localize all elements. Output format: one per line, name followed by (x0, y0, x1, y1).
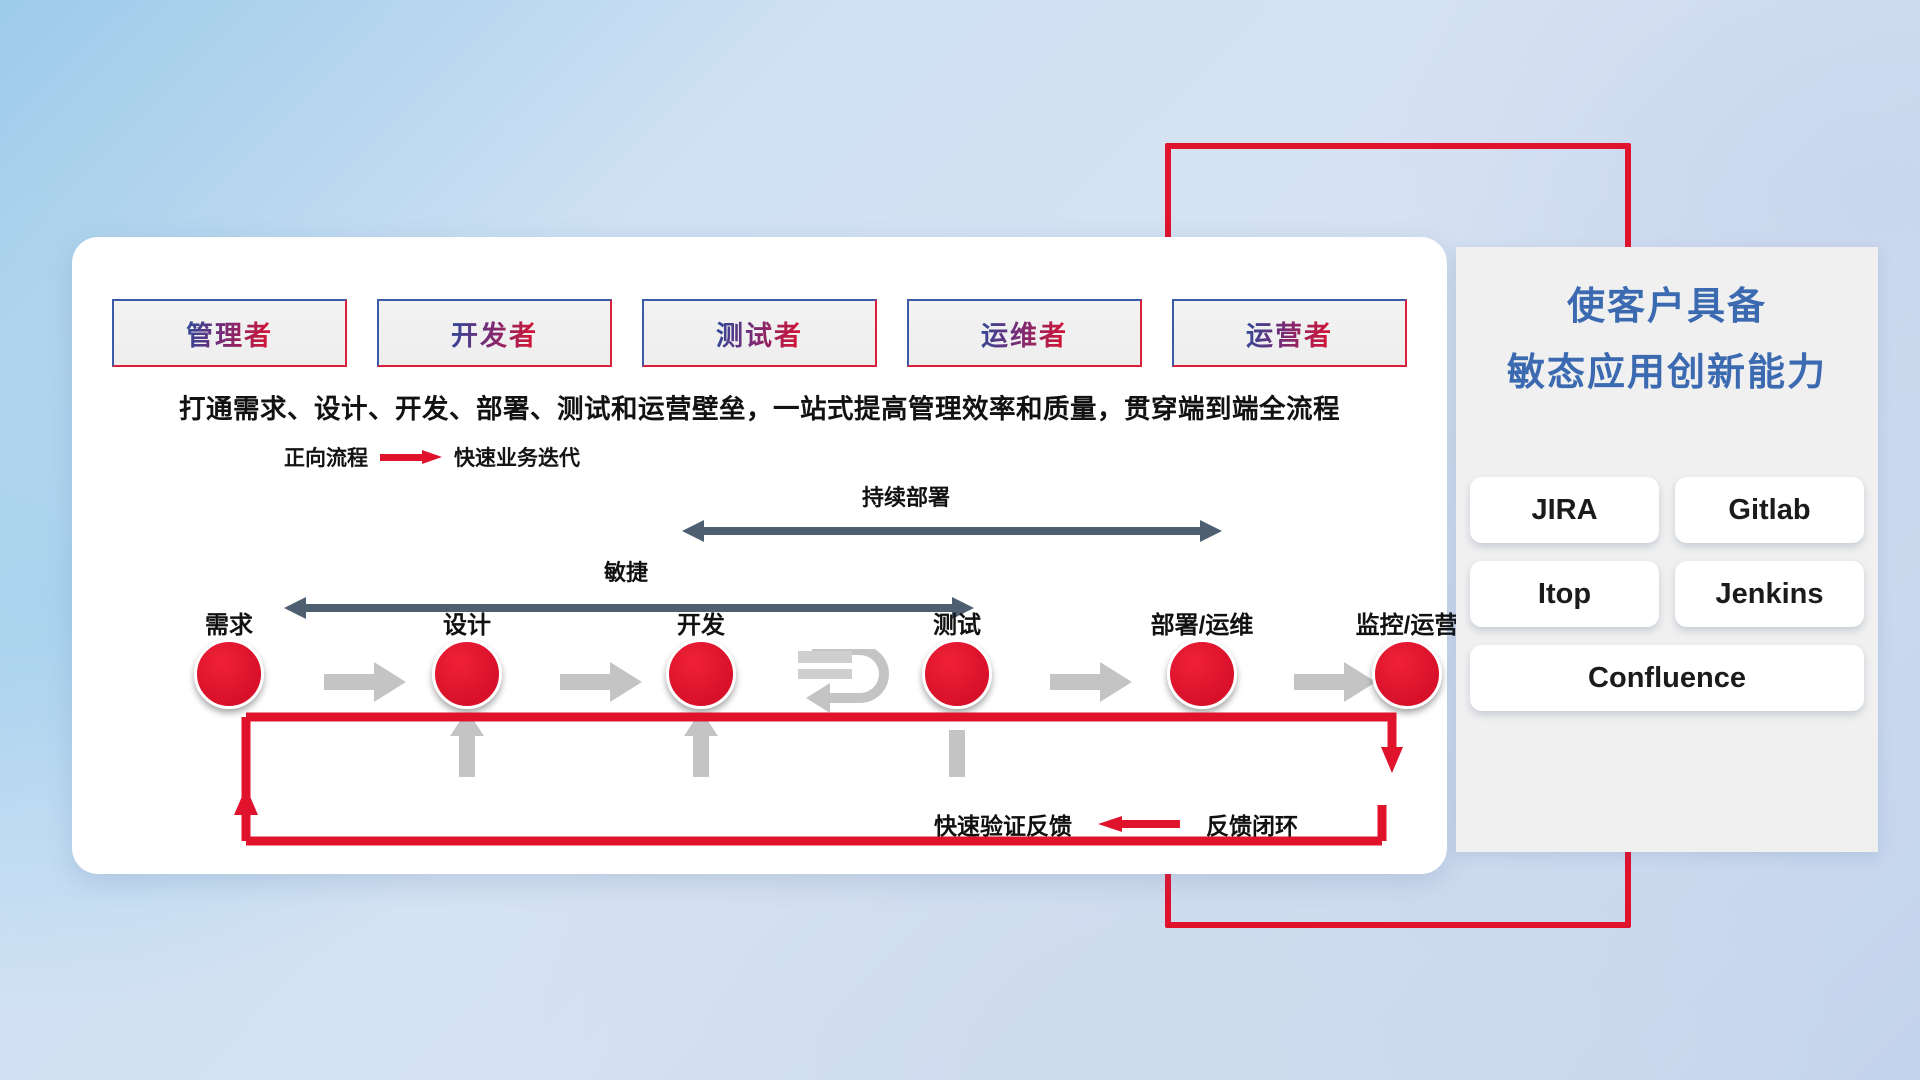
tool-button-gitlab[interactable]: Gitlab (1675, 477, 1864, 543)
continuous-deployment-label: 持续部署 (862, 480, 950, 512)
right-panel: 使客户具备 敏态应用创新能力 JIRA Gitlab Itop Jenkins … (1456, 247, 1878, 852)
forward-flow-right-label: 快速业务迭代 (454, 442, 580, 472)
panel-title-line1: 使客户具备 (1456, 275, 1878, 330)
gray-feedback-risers (112, 702, 1407, 777)
stage-label: 需求 (205, 605, 253, 640)
role-label: 运维者 (981, 314, 1068, 353)
stage-label: 部署/运维 (1151, 605, 1254, 640)
role-box-list: 管理者 开发者 测试者 运维者 运营者 (112, 299, 1407, 367)
forward-flow-left-label: 正向流程 (284, 442, 368, 472)
tool-button-jenkins[interactable]: Jenkins (1675, 561, 1864, 627)
stage-dot (1372, 639, 1442, 709)
role-box-operations[interactable]: 运营者 (1172, 299, 1407, 367)
stage-dot (922, 639, 992, 709)
role-label: 测试者 (716, 314, 803, 353)
stage-label: 设计 (443, 605, 491, 640)
description-text: 打通需求、设计、开发、部署、测试和运营壁垒，一站式提高管理效率和质量，贯穿端到端… (72, 387, 1447, 426)
arrow-right-red-icon (380, 450, 442, 464)
tool-button-itop[interactable]: Itop (1470, 561, 1659, 627)
pipeline: 需求 设计 开发 (112, 607, 1407, 807)
feedback-right-label: 反馈闭环 (1206, 807, 1298, 841)
stage-dot (194, 639, 264, 709)
feedback-left-label: 快速验证反馈 (934, 807, 1072, 841)
panel-title-line2: 敏态应用创新能力 (1456, 341, 1878, 396)
tool-list: JIRA Gitlab Itop Jenkins Confluence (1470, 477, 1864, 711)
agile-label: 敏捷 (604, 555, 648, 587)
role-label: 运营者 (1246, 314, 1333, 353)
stage-dot (1167, 639, 1237, 709)
stage-dot (666, 639, 736, 709)
stage-label: 监控/运营 (1356, 605, 1459, 640)
stage-dot (432, 639, 502, 709)
feedback-row: 快速验证反馈 反馈闭环 (934, 807, 1298, 841)
tool-button-jira[interactable]: JIRA (1470, 477, 1659, 543)
main-card: 管理者 开发者 测试者 运维者 运营者 打通需求、设计、开发、部署、测试和运营壁… (72, 237, 1447, 874)
role-box-developer[interactable]: 开发者 (377, 299, 612, 367)
role-box-tester[interactable]: 测试者 (642, 299, 877, 367)
arrow-left-red-icon (1098, 816, 1180, 832)
role-box-manager[interactable]: 管理者 (112, 299, 347, 367)
role-label: 开发者 (451, 314, 538, 353)
forward-flow-row: 正向流程 快速业务迭代 (284, 442, 580, 472)
stage-label: 开发 (677, 605, 725, 640)
stage-label: 测试 (933, 605, 981, 640)
role-box-ops[interactable]: 运维者 (907, 299, 1142, 367)
tool-button-confluence[interactable]: Confluence (1470, 645, 1864, 711)
double-arrow-continuous-deployment-icon (682, 520, 1222, 542)
role-label: 管理者 (186, 314, 273, 353)
